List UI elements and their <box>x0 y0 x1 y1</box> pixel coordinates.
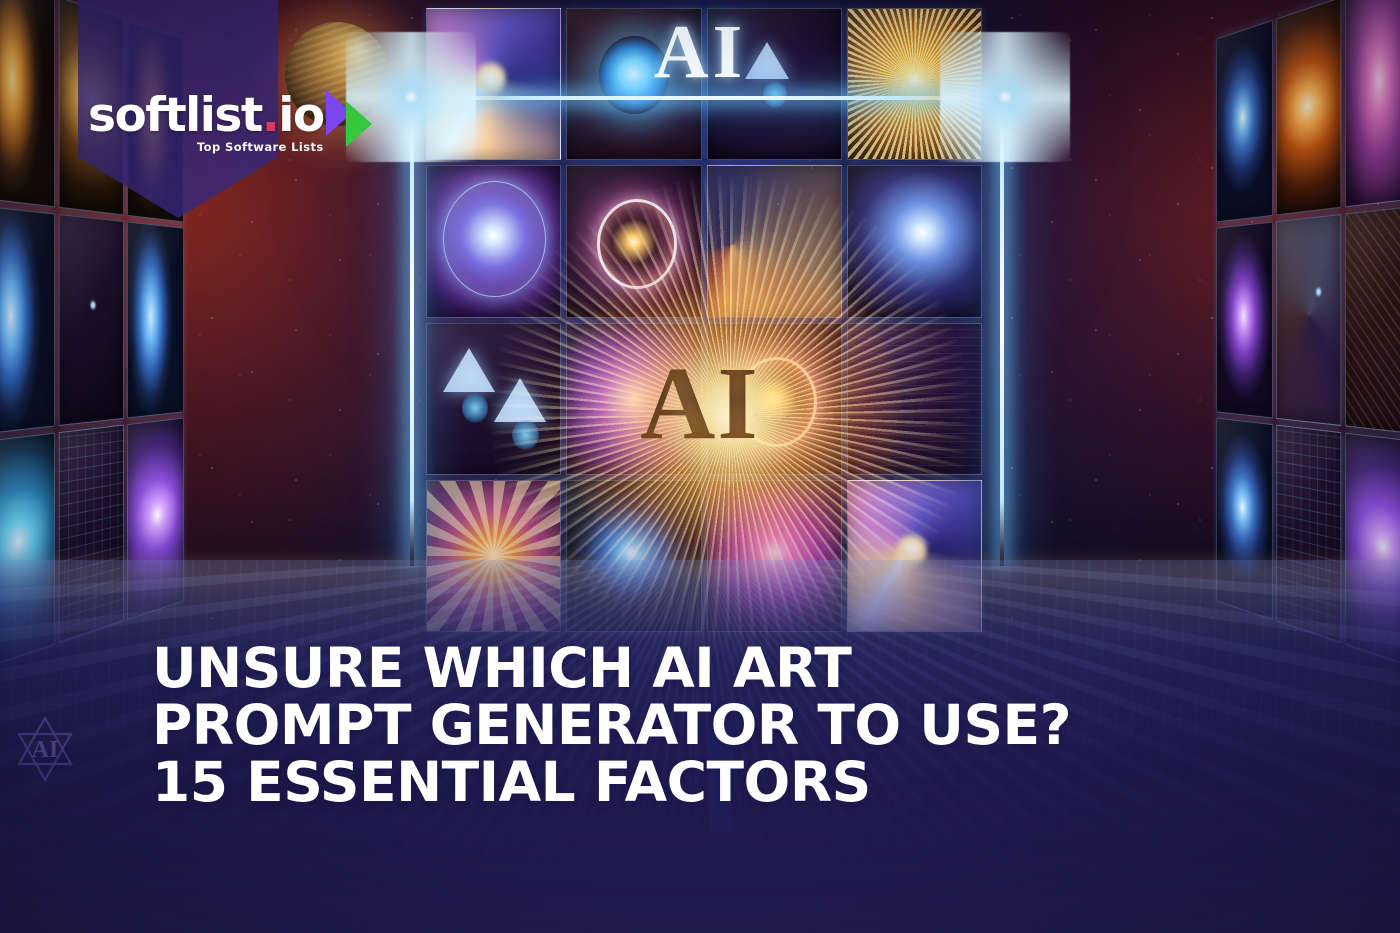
ai-center-label: AI <box>0 352 1400 456</box>
headline-line-3: 15 ESSENTIAL FACTORS <box>152 754 1071 811</box>
headline-line-1: UNSURE WHICH AI ART <box>152 640 1071 697</box>
logo-dot: . <box>262 88 278 143</box>
neon-frame-right <box>1000 96 1004 566</box>
logo-tld: io <box>278 88 323 143</box>
headline: UNSURE WHICH AI ART PROMPT GENERATOR TO … <box>152 640 1071 811</box>
headline-line-2: PROMPT GENERATOR TO USE? <box>152 697 1071 754</box>
play-triangle-icon <box>322 90 388 152</box>
site-logo[interactable]: softlist.io Top Software Lists <box>88 94 388 154</box>
logo-wordmark: softlist.io <box>88 94 324 139</box>
neon-frame-top <box>406 96 1006 100</box>
logo-text-block: softlist.io Top Software Lists <box>88 94 324 154</box>
neon-frame-left <box>410 96 414 566</box>
logo-name: softlist <box>88 88 262 143</box>
hero-banner: AI AI AI softlist.io Top Software Lists … <box>0 0 1400 933</box>
logo-tagline: Top Software Lists <box>88 140 324 154</box>
play-triangle-green-icon <box>346 101 372 147</box>
